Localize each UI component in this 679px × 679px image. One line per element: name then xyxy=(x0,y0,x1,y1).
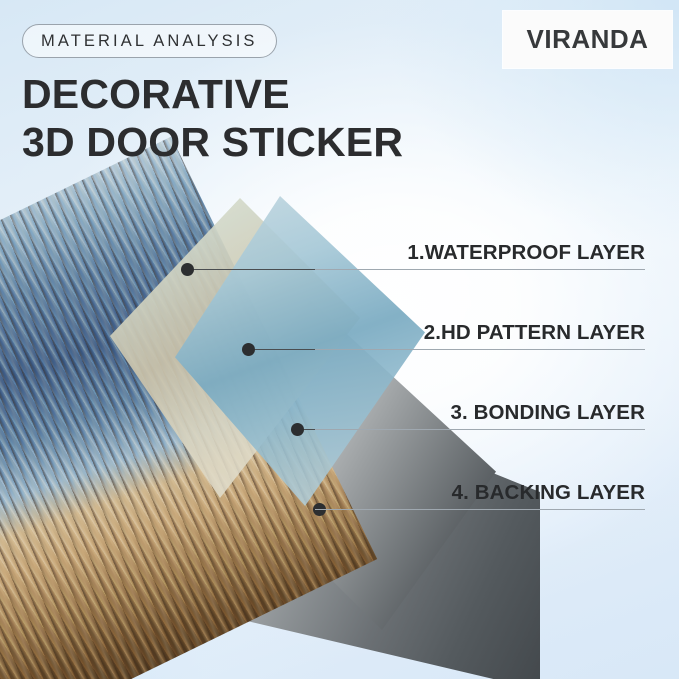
eyebrow-text: MATERIAL ANALYSIS xyxy=(41,32,258,51)
callout-dot-3 xyxy=(291,423,304,436)
layer-label-1-text: 1.WATERPROOF LAYER xyxy=(407,241,645,264)
layer-label-4: 4. BACKING LAYER xyxy=(315,481,645,510)
page-title-line-1: DECORATIVE xyxy=(22,71,290,117)
callout-dot-1 xyxy=(181,263,194,276)
page-title-line-2: 3D DOOR STICKER xyxy=(22,118,403,166)
layer-label-3-text: 3. BONDING LAYER xyxy=(451,401,646,424)
layer-label-2: 2.HD PATTERN LAYER xyxy=(315,321,645,350)
eyebrow-pill: MATERIAL ANALYSIS xyxy=(22,24,277,58)
callout-dot-2 xyxy=(242,343,255,356)
layer-label-2-text: 2.HD PATTERN LAYER xyxy=(424,321,645,344)
layer-label-3: 3. BONDING LAYER xyxy=(315,401,645,430)
page-title: DECORATIVE 3D DOOR STICKER xyxy=(22,70,403,166)
layer-label-1: 1.WATERPROOF LAYER xyxy=(315,241,645,270)
layer-label-4-text: 4. BACKING LAYER xyxy=(452,481,645,504)
brand-logo: VIRANDA xyxy=(503,11,672,68)
brand-name: VIRANDA xyxy=(527,24,649,55)
poster-canvas: MATERIAL ANALYSIS DECORATIVE 3D DOOR STI… xyxy=(0,0,679,679)
